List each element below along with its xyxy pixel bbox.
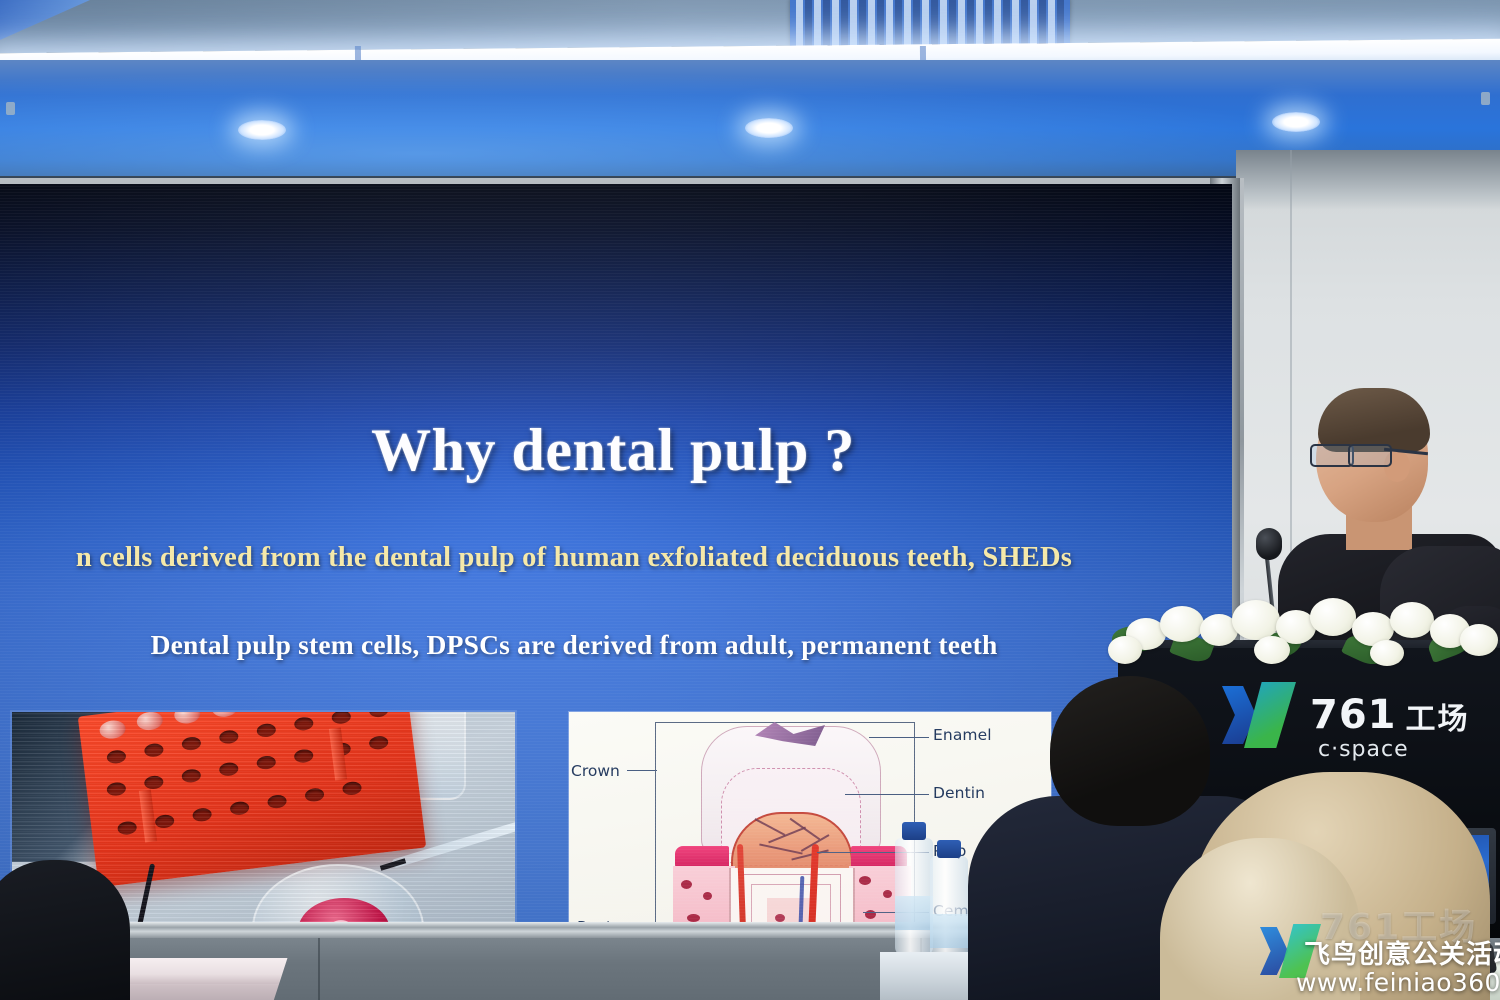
lead-enamel	[869, 737, 929, 738]
diagram-label-dentin: Dentin	[933, 784, 985, 802]
podium-logo-number: 761	[1310, 695, 1397, 735]
downlight-1	[238, 120, 286, 140]
watermark-chinese-text: 飞鸟创意公关活动策划	[1304, 934, 1500, 971]
alveolar-bone-left	[673, 866, 735, 922]
slide-subtitle-shed: n cells derived from the dental pulp of …	[0, 542, 1184, 574]
watermark-url: www.feiniao360.com	[1296, 968, 1500, 997]
audience-member-left	[0, 860, 130, 1000]
lower-wall-seam-1	[318, 938, 320, 1000]
downlight-3	[1272, 112, 1320, 132]
speaker-hair	[1318, 388, 1430, 452]
slide-title: Why dental pulp ?	[0, 416, 1232, 485]
podium-logo-text: 761 工场	[1310, 695, 1470, 735]
audience-head-dark	[1050, 676, 1210, 826]
microphone-icon	[1256, 528, 1282, 560]
bracket-root	[655, 828, 656, 922]
air-vent-grille	[790, 0, 1070, 48]
water-bottle-1	[895, 838, 933, 956]
lead-dentin	[845, 794, 929, 795]
diagram-label-crown: Crown	[571, 762, 620, 780]
flower-arrangement	[1108, 596, 1500, 668]
bracket-crown	[655, 722, 656, 828]
root-pulp-canal	[767, 898, 813, 922]
diagram-label-enamel: Enamel	[933, 726, 992, 744]
slide-subtitle-dpsc: Dental pulp stem cells, DPSCs are derive…	[0, 629, 1154, 661]
downlight-2	[745, 118, 793, 138]
speaker-glasses	[1310, 444, 1386, 464]
podium-logo-subtitle: c·space	[1318, 737, 1409, 762]
presentation-photo: Why dental pulp ? n cells derived from t…	[0, 0, 1500, 1000]
right-wall-shadow	[1236, 150, 1500, 210]
feiniao-watermark: 飞鸟创意公关活动策划 www.feiniao360.com	[1256, 918, 1500, 1000]
lead-crown	[627, 770, 657, 771]
tooth-nerve-branches	[747, 822, 839, 868]
sprinkler-head-right	[1481, 92, 1490, 105]
tooth-cross-section	[689, 726, 889, 922]
podium-logo-chinese: 工场	[1406, 705, 1470, 735]
sprinkler-head-left	[6, 102, 15, 115]
